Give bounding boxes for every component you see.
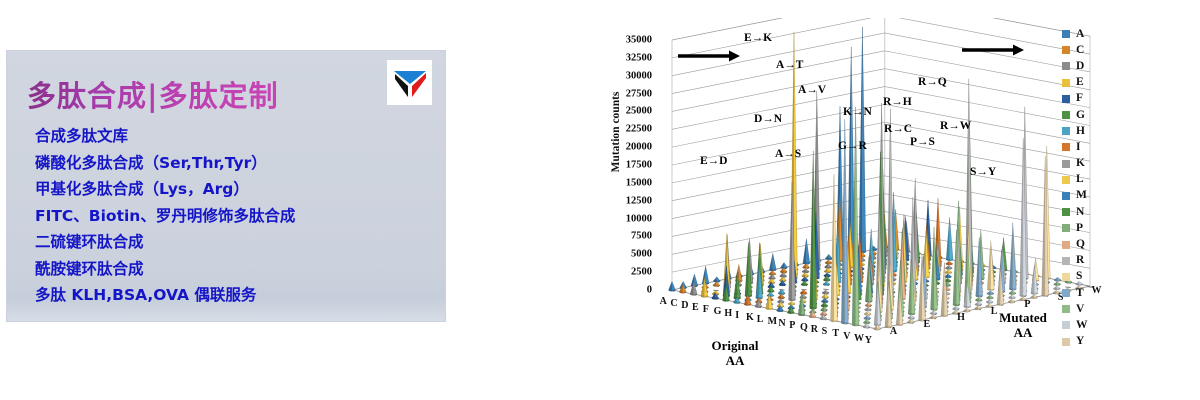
legend-label: K bbox=[1076, 158, 1085, 169]
chart-legend[interactable]: ACDEFGHIKLMNPQRSTVWY bbox=[1062, 26, 1118, 350]
legend-label: H bbox=[1076, 126, 1085, 137]
z-axis-tick-label: E bbox=[924, 319, 931, 330]
legend-label: D bbox=[1076, 61, 1084, 72]
x-axis-tick-label: E bbox=[692, 302, 699, 313]
x-axis-tick-label: V bbox=[843, 331, 850, 342]
legend-swatch-icon bbox=[1062, 241, 1070, 249]
company-logo[interactable] bbox=[387, 60, 432, 105]
x-axis-tick-label: R bbox=[811, 324, 818, 335]
x-axis-tick-label: N bbox=[778, 318, 785, 329]
promo-service-item: FITC、Biotin、罗丹明修饰多肽合成 bbox=[35, 203, 425, 230]
z-axis-tick-label: H bbox=[957, 312, 965, 323]
promo-service-item: 合成多肽文库 bbox=[35, 123, 425, 150]
peak-annotation: P→S bbox=[910, 136, 935, 148]
x-axis-tick-label: H bbox=[724, 308, 732, 319]
legend-item[interactable]: S bbox=[1062, 269, 1118, 285]
legend-label: A bbox=[1076, 29, 1084, 40]
legend-swatch-icon bbox=[1062, 289, 1070, 297]
z-axis-tick-label: P bbox=[1024, 299, 1030, 310]
x-axis-tick-label: K bbox=[746, 312, 754, 323]
legend-swatch-icon bbox=[1062, 176, 1070, 184]
legend-item[interactable]: A bbox=[1062, 26, 1118, 42]
legend-label: M bbox=[1076, 190, 1087, 201]
legend-item[interactable]: N bbox=[1062, 204, 1118, 220]
legend-swatch-icon bbox=[1062, 127, 1070, 135]
legend-item[interactable]: F bbox=[1062, 91, 1118, 107]
x-axis-tick-label: C bbox=[670, 298, 677, 309]
legend-label: T bbox=[1076, 288, 1084, 299]
promo-service-item: 磷酸化多肽合成（Ser,Thr,Tyr） bbox=[35, 150, 425, 177]
legend-item[interactable]: G bbox=[1062, 107, 1118, 123]
legend-label: Q bbox=[1076, 239, 1085, 250]
x-axis-tick-label: P bbox=[789, 320, 795, 331]
legend-item[interactable]: E bbox=[1062, 75, 1118, 91]
promo-service-item: 二硫键环肽合成 bbox=[35, 229, 425, 256]
legend-swatch-icon bbox=[1062, 305, 1070, 313]
peak-annotation: R→H bbox=[883, 96, 912, 108]
z-axis-title: MutatedAA bbox=[978, 310, 1068, 340]
legend-label: P bbox=[1076, 223, 1083, 234]
legend-item[interactable]: D bbox=[1062, 58, 1118, 74]
peak-annotation: A→V bbox=[798, 84, 826, 96]
legend-label: R bbox=[1076, 255, 1084, 266]
legend-item[interactable]: Y bbox=[1062, 334, 1118, 350]
peak-annotation: D→N bbox=[754, 113, 782, 125]
peak-annotation: S→Y bbox=[970, 166, 996, 178]
legend-swatch-icon bbox=[1062, 338, 1070, 346]
x-axis-tick-label: M bbox=[768, 316, 777, 327]
legend-label: G bbox=[1076, 110, 1085, 121]
legend-label: S bbox=[1076, 271, 1082, 282]
legend-item[interactable]: Q bbox=[1062, 236, 1118, 252]
legend-swatch-icon bbox=[1062, 111, 1070, 119]
legend-item[interactable]: M bbox=[1062, 188, 1118, 204]
legend-swatch-icon bbox=[1062, 273, 1070, 281]
x-axis-tick-label: W bbox=[854, 333, 864, 344]
legend-swatch-icon bbox=[1062, 257, 1070, 265]
legend-item[interactable]: P bbox=[1062, 220, 1118, 236]
legend-label: I bbox=[1076, 142, 1080, 153]
peak-annotation: G→R bbox=[838, 140, 867, 152]
x-axis-title: OriginalAA bbox=[680, 338, 790, 368]
x-axis-tick-label: S bbox=[822, 326, 828, 337]
peak-annotation: E→D bbox=[700, 155, 727, 167]
legend-label: N bbox=[1076, 207, 1084, 218]
x-axis-tick-label: D bbox=[681, 300, 688, 311]
x-axis-tick-label: I bbox=[735, 310, 739, 321]
legend-swatch-icon bbox=[1062, 79, 1070, 87]
legend-item[interactable]: V bbox=[1062, 301, 1118, 317]
legend-item[interactable]: W bbox=[1062, 317, 1118, 333]
z-axis-tick-label: A bbox=[890, 326, 897, 337]
peak-annotation: E→K bbox=[744, 32, 772, 44]
promo-service-item: 甲基化多肽合成（Lys，Arg） bbox=[35, 176, 425, 203]
peak-annotation: K→N bbox=[843, 106, 872, 118]
mutation-counts-3d-chart: Mutation counts 025005000750010000125001… bbox=[580, 18, 1194, 386]
legend-item[interactable]: R bbox=[1062, 253, 1118, 269]
x-axis-tick-label: L bbox=[757, 314, 764, 325]
peak-annotation: A→T bbox=[776, 59, 803, 71]
promo-service-item: 酰胺键环肽合成 bbox=[35, 256, 425, 283]
legend-label: W bbox=[1076, 320, 1088, 331]
promo-panel: 多肽合成|多肽定制 合成多肽文库 磷酸化多肽合成（Ser,Thr,Tyr） 甲基… bbox=[7, 51, 445, 321]
legend-item[interactable]: C bbox=[1062, 42, 1118, 58]
company-arrow-logo-icon bbox=[391, 66, 429, 100]
legend-swatch-icon bbox=[1062, 321, 1070, 329]
x-axis-tick-label: Q bbox=[800, 322, 808, 333]
legend-swatch-icon bbox=[1062, 46, 1070, 54]
legend-label: C bbox=[1076, 45, 1084, 56]
legend-label: L bbox=[1076, 174, 1084, 185]
peak-annotation: A→S bbox=[775, 148, 801, 160]
x-axis-tick-label: A bbox=[660, 296, 667, 307]
legend-swatch-icon bbox=[1062, 208, 1070, 216]
legend-swatch-icon bbox=[1062, 62, 1070, 70]
legend-label: Y bbox=[1076, 336, 1084, 347]
promo-service-item: 多肽 KLH,BSA,OVA 偶联服务 bbox=[35, 282, 425, 309]
legend-item[interactable]: H bbox=[1062, 123, 1118, 139]
legend-item[interactable]: I bbox=[1062, 139, 1118, 155]
legend-swatch-icon bbox=[1062, 224, 1070, 232]
legend-label: V bbox=[1076, 304, 1084, 315]
x-axis-tick-label: F bbox=[703, 304, 709, 315]
legend-swatch-icon bbox=[1062, 192, 1070, 200]
promo-title: 多肽合成|多肽定制 bbox=[27, 73, 279, 115]
legend-swatch-icon bbox=[1062, 143, 1070, 151]
legend-swatch-icon bbox=[1062, 160, 1070, 168]
legend-label: E bbox=[1076, 77, 1084, 88]
x-axis-tick-label: Y bbox=[865, 335, 872, 346]
x-axis-tick-label: T bbox=[832, 328, 839, 339]
x-axis-tick-label: G bbox=[714, 306, 722, 317]
legend-item[interactable]: K bbox=[1062, 156, 1118, 172]
promo-service-list: 合成多肽文库 磷酸化多肽合成（Ser,Thr,Tyr） 甲基化多肽合成（Lys，… bbox=[35, 123, 425, 309]
peak-annotation: R→W bbox=[940, 120, 971, 132]
peak-annotation: R→Q bbox=[918, 76, 947, 88]
legend-item[interactable]: T bbox=[1062, 285, 1118, 301]
legend-item[interactable]: L bbox=[1062, 172, 1118, 188]
peak-annotation: R→C bbox=[884, 123, 912, 135]
legend-label: F bbox=[1076, 93, 1083, 104]
legend-swatch-icon bbox=[1062, 95, 1070, 103]
legend-swatch-icon bbox=[1062, 30, 1070, 38]
